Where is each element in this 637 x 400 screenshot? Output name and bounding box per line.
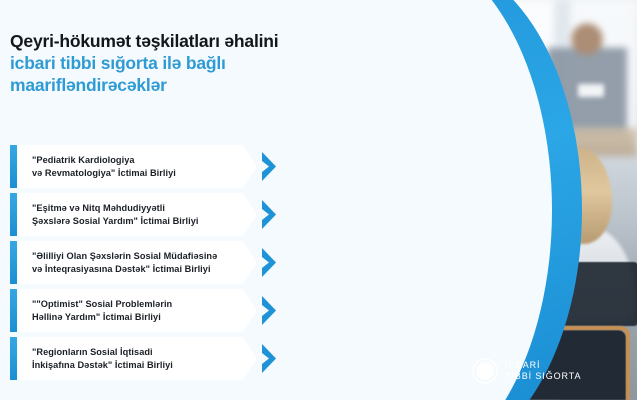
blue-swoosh-mask <box>360 0 552 400</box>
list-item[interactable]: "Əlilliyi Olan Şəxslərin Sosial Müdafiəs… <box>10 241 300 284</box>
card-accent-bar <box>10 145 17 188</box>
page-title: Qeyri-hökumət təşkilatları əhalini icbar… <box>10 30 360 96</box>
headline-line-2: icbari tibbi sığorta ilə bağlı <box>10 52 360 74</box>
list-item[interactable]: "Eşitmə və Nitq Məhdudiyyətli Şəxslərə S… <box>10 193 300 236</box>
logo-wordmark: İCBARİ TİBBİ SIĞORTA <box>505 360 581 382</box>
photo-presenter-badge <box>578 84 604 97</box>
headline-line-1: Qeyri-hökumət təşkilatları əhalini <box>10 30 360 52</box>
organization-name: ""Optimist" Sosial Problemlərin Həllinə … <box>17 298 198 323</box>
organization-card[interactable]: "Pediatrik Kardiologiya və Revmatologiya… <box>17 145 257 188</box>
chevron-right-icon[interactable] <box>260 152 282 181</box>
card-accent-bar <box>10 193 17 236</box>
organization-name: "Əlilliyi Olan Şəxslərin Sosial Müdafiəs… <box>17 250 243 275</box>
chevron-right-icon[interactable] <box>260 248 282 277</box>
logo-line-1: İCBARİ <box>505 360 581 371</box>
icbari-tibbi-sigorta-logo: İCBARİ TİBBİ SIĞORTA <box>472 358 581 384</box>
seminar-audience-photo <box>360 0 637 400</box>
headline-line-3: maarifləndirəcəklər <box>10 74 360 96</box>
organization-card[interactable]: "Regionların Sosial İqtisadi İnkişafına … <box>17 337 257 380</box>
organization-name: "Pediatrik Kardiologiya və Revmatologiya… <box>17 154 202 179</box>
organization-card[interactable]: "Eşitmə və Nitq Məhdudiyyətli Şəxslərə S… <box>17 193 257 236</box>
chevron-right-icon[interactable] <box>260 200 282 229</box>
organization-name: "Eşitmə və Nitq Məhdudiyyətli Şəxslərə S… <box>17 202 225 227</box>
chevron-right-icon[interactable] <box>260 296 282 325</box>
organization-name: "Regionların Sosial İqtisadi İnkişafına … <box>17 346 199 371</box>
organization-card[interactable]: ""Optimist" Sosial Problemlərin Həllinə … <box>17 289 257 332</box>
banner-canvas: Qeyri-hökumət təşkilatları əhalini icbar… <box>0 0 637 400</box>
list-item[interactable]: "Regionların Sosial İqtisadi İnkişafına … <box>10 337 300 380</box>
logo-line-2: TİBBİ SIĞORTA <box>505 371 581 382</box>
chevron-right-icon[interactable] <box>260 344 282 373</box>
photo-left-fade <box>360 0 386 400</box>
card-accent-bar <box>10 337 17 380</box>
list-item[interactable]: "Pediatrik Kardiologiya və Revmatologiya… <box>10 145 300 188</box>
list-item[interactable]: ""Optimist" Sosial Problemlərin Həllinə … <box>10 289 300 332</box>
insurance-emblem-icon <box>472 358 498 384</box>
organization-card[interactable]: "Əlilliyi Olan Şəxslərin Sosial Müdafiəs… <box>17 241 257 284</box>
organization-list: "Pediatrik Kardiologiya və Revmatologiya… <box>10 145 300 385</box>
card-accent-bar <box>10 289 17 332</box>
card-accent-bar <box>10 241 17 284</box>
